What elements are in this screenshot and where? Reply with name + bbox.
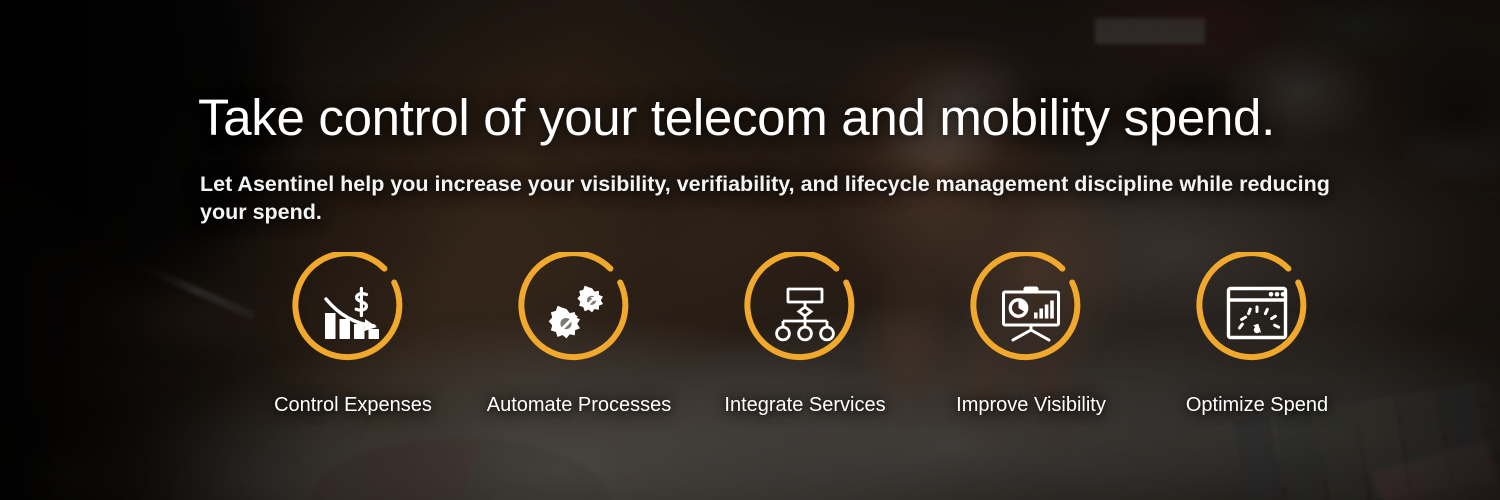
gears-arrows-icon [548,286,610,342]
feature-item-automate-processes[interactable]: Automate Processes [481,252,677,417]
declining-bar-chart-dollar-icon [322,286,384,342]
presentation-board-charts-icon [1000,286,1062,342]
feature-ring-improve-visibility [969,252,1093,376]
feature-label-improve-visibility: Improve Visibility [956,394,1106,417]
feature-ring-automate-processes [517,252,641,376]
feature-item-optimize-spend[interactable]: Optimize Spend [1159,252,1355,417]
feature-ring-control-expenses [291,252,415,376]
feature-ring-optimize-spend [1195,252,1319,376]
org-chart-hierarchy-icon [774,286,836,342]
feature-label-optimize-spend: Optimize Spend [1186,394,1328,417]
hero-headline: Take control of your telecom and mobilit… [198,90,1275,145]
hero-banner: Take control of your telecom and mobilit… [0,0,1500,500]
feature-list: Control Expenses [255,252,1355,417]
browser-gauge-icon [1226,286,1288,342]
hero-content: Take control of your telecom and mobilit… [0,0,1500,500]
feature-item-integrate-services[interactable]: Integrate Services [707,252,903,417]
feature-ring-integrate-services [743,252,867,376]
feature-label-integrate-services: Integrate Services [724,394,885,417]
feature-label-automate-processes: Automate Processes [487,394,672,417]
feature-item-improve-visibility[interactable]: Improve Visibility [933,252,1129,417]
feature-item-control-expenses[interactable]: Control Expenses [255,252,451,417]
feature-label-control-expenses: Control Expenses [274,394,432,417]
hero-subheadline: Let Asentinel help you increase your vis… [200,170,1380,227]
